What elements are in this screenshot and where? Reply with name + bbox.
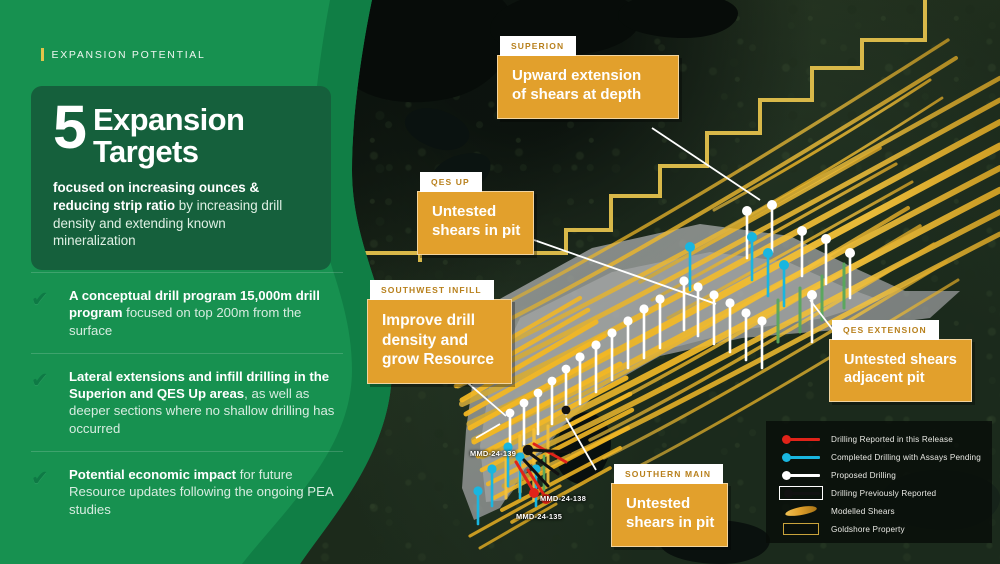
callout-line: Untested shears — [844, 351, 957, 369]
drillhole-label: MMD-24-139 — [470, 449, 516, 458]
bullet-text: A conceptual drill program 15,000m drill… — [69, 287, 343, 339]
map-legend: Drilling Reported in this Release Comple… — [766, 421, 992, 543]
legend-label: Modelled Shears — [831, 507, 895, 516]
hero-subtitle: focused on increasing ounces & reducing … — [53, 179, 311, 250]
slide-canvas: SUPERION Upward extension of shears at d… — [0, 0, 1000, 564]
red-drill-line-icon — [778, 432, 824, 446]
hero-words: Expansion Targets — [93, 104, 244, 168]
legend-item: Drilling Reported in this Release — [778, 430, 982, 448]
cyan-drill-line-icon — [778, 450, 824, 464]
check-icon: ✔ — [31, 289, 69, 339]
callout-body: Untested shears adjacent pit — [829, 339, 972, 402]
panel-content: EXPANSION POTENTIAL 5 Expansion Targets … — [0, 0, 360, 564]
callout-superion[interactable]: SUPERION Upward extension of shears at d… — [497, 36, 679, 119]
legend-label: Drilling Reported in this Release — [831, 435, 953, 444]
callout-tab-label: SOUTHWEST INFILL — [370, 280, 494, 300]
legend-item: Proposed Drilling — [778, 466, 982, 484]
callout-southern-main[interactable]: SOUTHERN MAIN Untested shears in pit — [611, 464, 728, 547]
drillhole-label: MMD-24-138 — [540, 494, 586, 503]
callout-line: of shears at depth — [512, 86, 664, 105]
callout-tab-label: SUPERION — [500, 36, 576, 56]
hero-title-line2: Targets — [93, 136, 244, 168]
legend-label: Proposed Drilling — [831, 471, 896, 480]
legend-label: Drilling Previously Reported — [831, 489, 936, 498]
property-outline-icon — [778, 522, 824, 536]
callout-line: Untested — [432, 203, 519, 222]
callout-southwest-infill[interactable]: SOUTHWEST INFILL Improve drill density a… — [367, 280, 512, 384]
list-item: ✔ Lateral extensions and infill drilling… — [31, 353, 343, 451]
callout-line: Improve drill — [382, 311, 497, 331]
eyebrow: EXPANSION POTENTIAL — [41, 48, 206, 61]
legend-item: Drilling Previously Reported — [778, 484, 982, 502]
callout-body: Improve drill density and grow Resource — [367, 299, 512, 384]
callout-line: shears in pit — [626, 514, 713, 533]
bullet-bold: Potential economic impact — [69, 467, 236, 482]
callout-line: grow Resource — [382, 350, 497, 370]
hero-title: 5 Expansion Targets — [53, 104, 311, 168]
list-item: ✔ A conceptual drill program 15,000m dri… — [31, 272, 343, 353]
legend-label: Completed Drilling with Assays Pending — [831, 453, 981, 462]
hero-number: 5 — [53, 102, 85, 152]
eyebrow-accent-bar — [41, 48, 44, 61]
legend-label: Goldshore Property — [831, 525, 905, 534]
bullet-text: Lateral extensions and infill drilling i… — [69, 368, 343, 437]
callout-body: Upward extension of shears at depth — [497, 55, 679, 119]
white-drill-line-icon — [778, 468, 824, 482]
eyebrow-label: EXPANSION POTENTIAL — [52, 49, 206, 61]
legend-item: Modelled Shears — [778, 502, 982, 520]
callout-line: shears in pit — [432, 222, 519, 241]
hero-title-line1: Expansion — [93, 104, 244, 136]
shear-swatch-icon — [778, 504, 824, 518]
check-icon: ✔ — [31, 468, 69, 518]
check-icon: ✔ — [31, 370, 69, 437]
legend-item: Goldshore Property — [778, 520, 982, 538]
callout-line: density and — [382, 331, 497, 351]
callout-line: adjacent pit — [844, 369, 957, 387]
callout-line: Upward extension — [512, 67, 664, 86]
callout-qes-up[interactable]: QES UP Untested shears in pit — [417, 172, 534, 255]
callout-body: Untested shears in pit — [417, 191, 534, 255]
callout-tab-label: SOUTHERN MAIN — [614, 464, 723, 484]
boxed-drill-line-icon — [778, 486, 824, 500]
list-item: ✔ Potential economic impact for future R… — [31, 451, 343, 532]
bullet-list: ✔ A conceptual drill program 15,000m dri… — [31, 272, 343, 532]
callout-body: Untested shears in pit — [611, 483, 728, 547]
legend-item: Completed Drilling with Assays Pending — [778, 448, 982, 466]
callout-qes-extension[interactable]: QES EXTENSION Untested shears adjacent p… — [829, 320, 972, 402]
callout-line: Untested — [626, 495, 713, 514]
bullet-text: Potential economic impact for future Res… — [69, 466, 343, 518]
callout-tab-label: QES UP — [420, 172, 482, 192]
hero-card: 5 Expansion Targets focused on increasin… — [31, 86, 331, 270]
callout-tab-label: QES EXTENSION — [832, 320, 939, 340]
drillhole-label: MMD-24-135 — [516, 512, 562, 521]
